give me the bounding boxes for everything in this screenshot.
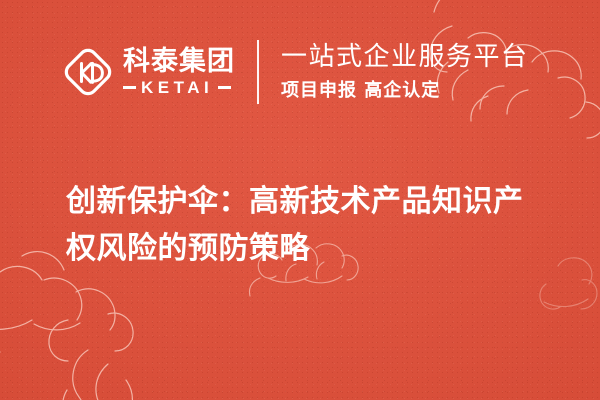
dash-right-icon xyxy=(218,86,231,89)
promo-banner: 科泰集团 KETAI 一站式企业服务平台 项目申报 高企认定 创新保护伞：高新技… xyxy=(0,0,600,400)
brand-logo[interactable]: 科泰集团 KETAI xyxy=(62,46,235,98)
tagline-secondary: 项目申报 高企认定 xyxy=(281,80,529,102)
brand-name-en-row: KETAI xyxy=(123,79,235,96)
brand-wordmark: 科泰集团 KETAI xyxy=(123,48,235,96)
brand-name-cn: 科泰集团 xyxy=(123,48,235,76)
brand-name-en: KETAI xyxy=(141,79,213,96)
ketai-diamond-kd-monogram-icon xyxy=(62,46,114,98)
tagline-primary: 一站式企业服务平台 xyxy=(281,42,529,73)
banner-header: 科泰集团 KETAI 一站式企业服务平台 项目申报 高企认定 xyxy=(0,26,600,118)
tagline-block: 一站式企业服务平台 项目申报 高企认定 xyxy=(281,42,529,102)
header-divider xyxy=(257,40,259,104)
dash-left-icon xyxy=(123,86,136,89)
article-title: 创新保护伞：高新技术产品知识产权风险的预防策略 xyxy=(66,178,546,272)
